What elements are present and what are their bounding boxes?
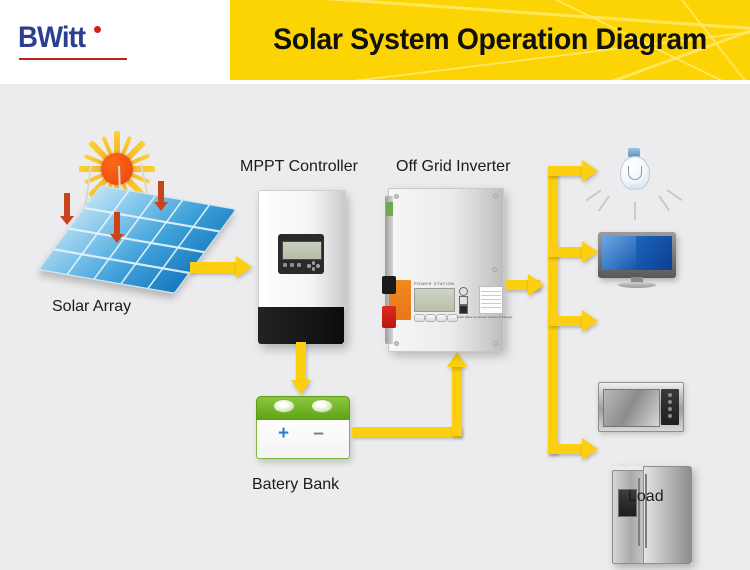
distribution-bus-vertical bbox=[548, 166, 558, 454]
battery-cap-icon bbox=[273, 399, 295, 413]
inverter-positive-terminal bbox=[382, 306, 396, 328]
flow-arrow-mppt-to-battery bbox=[296, 342, 306, 384]
flow-arrowhead-bus-to-bulb bbox=[582, 160, 598, 182]
sun-core bbox=[101, 153, 133, 185]
inverter-key-button[interactable] bbox=[436, 314, 447, 322]
light-ray-icon bbox=[598, 196, 610, 212]
flow-arrow-solar-to-mppt bbox=[190, 262, 238, 273]
mppt-controller-icon bbox=[258, 190, 344, 344]
title-banner: Solar System Operation Diagram bbox=[230, 0, 750, 80]
battery-face bbox=[256, 417, 350, 459]
inverter-indicator-icons bbox=[459, 287, 475, 311]
inverter-lcd-screen bbox=[414, 288, 455, 312]
flow-arrow-battery-to-inverter-h bbox=[352, 427, 462, 437]
fridge-handle-icon bbox=[645, 474, 647, 548]
solar-panel-icon bbox=[38, 184, 198, 292]
page-header: BWitt Solar System Operation Diagram bbox=[0, 0, 750, 84]
flow-arrowhead-mppt-to-battery bbox=[291, 380, 311, 395]
off-grid-inverter-label: Off Grid Inverter bbox=[396, 158, 510, 176]
microwave-door bbox=[603, 389, 660, 427]
bulb-filament bbox=[628, 166, 642, 180]
bulb-neck bbox=[629, 184, 639, 190]
refrigerator-icon bbox=[612, 466, 692, 564]
light-bulb-icon bbox=[612, 146, 656, 202]
page-title: Solar System Operation Diagram bbox=[243, 0, 737, 80]
logo-dot-icon bbox=[94, 26, 101, 33]
brand-logo-text: BWitt bbox=[18, 22, 147, 54]
microwave-icon bbox=[598, 382, 682, 430]
light-ray-icon bbox=[634, 202, 636, 220]
tv-stand-base bbox=[618, 282, 656, 288]
inverter-footer-text: Solar Wave Combined Inverter & Charger bbox=[457, 315, 512, 319]
mppt-display-panel bbox=[278, 234, 324, 274]
inverter-green-terminal bbox=[386, 202, 393, 216]
battery-positive-terminal: + bbox=[278, 424, 289, 443]
mppt-base bbox=[258, 307, 344, 344]
flow-arrow-battery-to-inverter-v bbox=[452, 366, 462, 436]
irradiance-arrow-icon bbox=[64, 193, 70, 217]
mppt-lcd-screen bbox=[282, 241, 322, 260]
inverter-spec-label bbox=[479, 286, 503, 314]
diagram-canvas: Solar Array MPPT Controller + bbox=[0, 84, 750, 570]
flow-arrowhead-battery-to-inverter bbox=[447, 352, 467, 367]
light-ray-icon bbox=[586, 189, 602, 201]
battery-top bbox=[256, 396, 350, 420]
inverter-key-button[interactable] bbox=[425, 314, 436, 322]
battery-icon: + – bbox=[256, 396, 348, 458]
irradiance-arrow-icon bbox=[158, 181, 164, 203]
inverter-key-button[interactable] bbox=[414, 314, 425, 322]
solar-array-label: Solar Array bbox=[52, 298, 131, 316]
television-icon bbox=[598, 232, 676, 290]
flow-arrowhead-bus-to-fridge bbox=[582, 438, 598, 460]
load-label: Load bbox=[628, 488, 664, 506]
brand-logo[interactable]: BWitt bbox=[18, 22, 158, 66]
tv-screen-gloss bbox=[602, 236, 636, 270]
battery-bank-label: Batery Bank bbox=[252, 476, 339, 494]
mppt-controller-label: MPPT Controller bbox=[240, 158, 358, 176]
flow-arrowhead-bus-to-microwave bbox=[582, 310, 598, 332]
inverter-brand-text: POWER STATION bbox=[414, 281, 455, 286]
battery-negative-terminal: – bbox=[313, 424, 324, 443]
flow-arrowhead-solar-to-mppt bbox=[236, 256, 252, 278]
tv-frame bbox=[598, 232, 676, 278]
battery-cap-icon bbox=[311, 399, 333, 413]
mppt-keypad[interactable] bbox=[307, 261, 320, 270]
inverter-negative-terminal bbox=[382, 276, 396, 294]
microwave-control-panel[interactable] bbox=[661, 389, 679, 425]
light-ray-icon bbox=[658, 196, 670, 212]
off-grid-inverter-icon: POWER STATION Solar Wave Combined Invert… bbox=[388, 188, 502, 350]
light-ray-icon bbox=[666, 189, 682, 201]
irradiance-arrow-icon bbox=[114, 212, 120, 235]
flow-arrowhead-bus-to-tv bbox=[582, 241, 598, 263]
logo-underline bbox=[19, 58, 127, 60]
inverter-body: POWER STATION Solar Wave Combined Invert… bbox=[388, 188, 504, 352]
microwave-body bbox=[598, 382, 684, 432]
flow-arrowhead-inverter-to-bus bbox=[528, 274, 544, 296]
fridge-door bbox=[643, 466, 692, 564]
